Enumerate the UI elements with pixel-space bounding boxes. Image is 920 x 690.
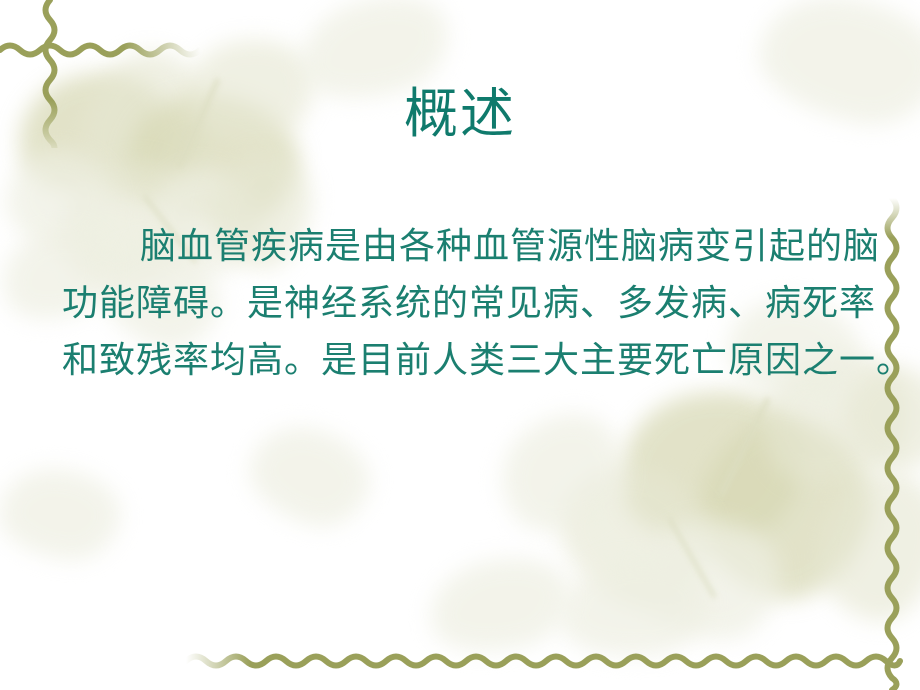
slide-title: 概述 <box>0 86 920 143</box>
body-line: 和致残率均高。是目前人类三大主要死亡原因之一。 <box>62 332 862 389</box>
bottom-horizontal-wave-rule <box>186 645 920 675</box>
watermark-leaf-shape <box>804 458 920 633</box>
watermark-stem-shape <box>718 396 771 497</box>
watermark-stem-shape <box>667 517 716 599</box>
body-line: 功能障碍。是神经系统的常见病、多发病、病死率 <box>62 275 862 332</box>
watermark-leaf-shape <box>238 412 382 539</box>
watermark-leaf-shape <box>0 462 126 566</box>
right-vertical-wave-rule <box>878 198 908 690</box>
watermark-leaf-shape <box>608 377 815 557</box>
presentation-slide: 概述 脑血管疾病是由各种血管源性脑病变引起的脑 功能障碍。是神经系统的常见病、多… <box>0 0 920 690</box>
watermark-leaf-shape <box>555 552 714 663</box>
top-horizontal-wave-rule <box>0 32 210 62</box>
watermark-leaf-shape <box>634 513 786 645</box>
watermark-leaf-shape <box>480 392 646 554</box>
body-line: 脑血管疾病是由各种血管源性脑病变引起的脑 <box>62 218 862 275</box>
watermark-leaf-shape <box>422 546 578 663</box>
watermark-leaf-shape <box>677 398 891 617</box>
watermark-leaf-shape <box>537 441 735 631</box>
slide-body-text: 脑血管疾病是由各种血管源性脑病变引起的脑 功能障碍。是神经系统的常见病、多发病、… <box>62 218 862 389</box>
